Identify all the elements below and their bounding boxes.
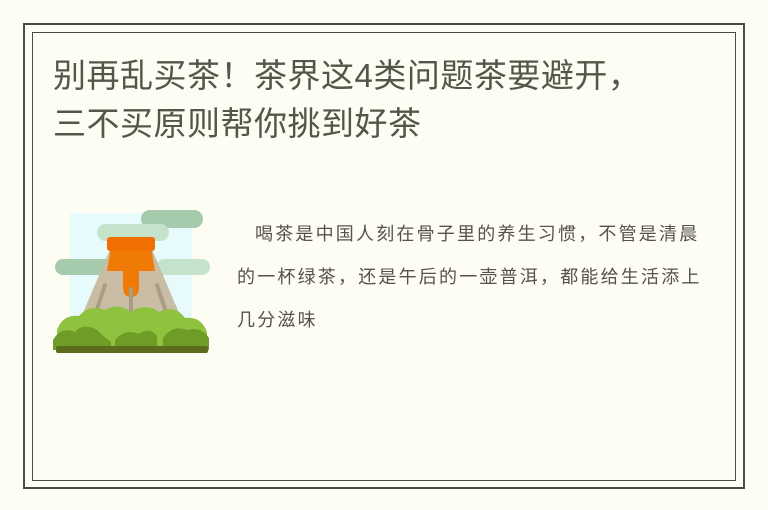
page-title: 别再乱买茶！茶界这4类问题茶要避开，三不买原则帮你挑到好茶: [53, 52, 673, 148]
foliage-icon: [53, 302, 211, 352]
content-row: 喝茶是中国人刻在骨子里的养生习惯，不管是清晨的一杯绿茶，还是午后的一壶普洱，都能…: [53, 205, 713, 362]
ground-base: [56, 346, 208, 353]
article-card: 别再乱买茶！茶界这4类问题茶要避开，三不买原则帮你挑到好茶: [0, 0, 768, 510]
body-paragraph: 喝茶是中国人刻在骨子里的养生习惯，不管是清晨的一杯绿茶，还是午后的一壶普洱，都能…: [237, 205, 713, 342]
volcano-illustration: [53, 207, 211, 362]
